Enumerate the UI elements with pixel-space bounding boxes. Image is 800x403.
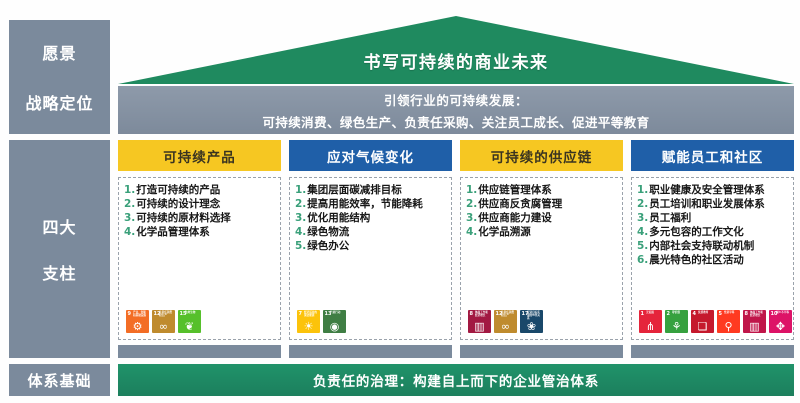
list-item: 2.可持续的设计理念 — [124, 198, 276, 211]
strategy-line-2: 可持续消费、绿色生产、负责任采购、关注员工成长、促进平等教育 — [262, 112, 649, 131]
sdg-glyph: ⚙ — [126, 321, 149, 332]
rail-strategy-label: 战略定位 — [25, 90, 93, 114]
sdg-number: 1 — [641, 311, 644, 317]
list-item-label: 供应链管理体系 — [478, 184, 552, 197]
sdg-glyph: ⋔ — [639, 321, 662, 332]
sdg-13-icon: 13气候行动◉ — [323, 310, 346, 333]
list-item-label: 化学品管理体系 — [136, 226, 210, 239]
pillar-1-sdg-icons: 9产业、创新和基础设施⚙12负责任消费和生产∞15陆地生物❦ — [124, 308, 276, 335]
pillar-4-base — [631, 345, 794, 358]
sdg-number: 9 — [128, 311, 131, 317]
pillar-3-base — [460, 345, 623, 358]
sdg-title: 无贫困 — [646, 311, 661, 314]
sdg-glyph: ☀ — [297, 321, 320, 332]
list-item-number: 2. — [295, 198, 306, 211]
pillar-4-body: 1.职业健康及安全管理体系2.员工培训和职业发展体系3.员工福利4.多元包容的工… — [631, 177, 794, 340]
sdg-title: 性别平等 — [724, 311, 739, 314]
list-item-number: 3. — [637, 212, 648, 225]
list-item: 1.职业健康及安全管理体系 — [637, 184, 789, 197]
pillar-2-base — [289, 345, 452, 358]
sdg-8-icon: 8体面工作和经济增长▥ — [468, 310, 491, 333]
pillar-2-item-list: 1.集团层面碳减排目标2.提高用能效率，节能降耗3.优化用能结构4.绿色物流5.… — [295, 184, 447, 254]
list-item-number: 4. — [466, 226, 477, 239]
list-item-label: 化学品溯源 — [478, 226, 531, 239]
list-item: 2.提高用能效率，节能降耗 — [295, 198, 447, 211]
sdg-number: 5 — [719, 311, 722, 317]
list-item-number: 1. — [124, 184, 135, 197]
sdg-title: 减少不平等 — [776, 311, 791, 314]
sdg-number: 7 — [299, 311, 302, 317]
pillar-1-base — [118, 345, 281, 358]
list-item-number: 3. — [124, 212, 135, 225]
strategy-line-1: 引领行业的可持续发展： — [384, 90, 528, 109]
list-item-label: 可持续的设计理念 — [136, 198, 220, 211]
sdg-glyph: ⚘ — [665, 321, 688, 332]
pillar-2: 应对气候变化1.集团层面碳减排目标2.提高用能效率，节能降耗3.优化用能结构4.… — [289, 140, 452, 358]
pillars-row: 可持续产品1.打造可持续的产品2.可持续的设计理念3.可持续的原材料选择4.化学… — [118, 140, 794, 358]
list-item: 1.打造可持续的产品 — [124, 184, 276, 197]
list-item-label: 供应商能力建设 — [478, 212, 552, 225]
list-item: 2.供应商反贪腐管理 — [466, 198, 618, 211]
list-item: 3.优化用能结构 — [295, 212, 447, 225]
pillar-3-sdg-icons: 8体面工作和经济增长▥12负责任消费和生产∞17促进目标实现的伙伴关系❀ — [466, 308, 618, 335]
pillar-4-item-list: 1.职业健康及安全管理体系2.员工培训和职业发展体系3.员工福利4.多元包容的工… — [637, 184, 789, 268]
sdg-number: 8 — [470, 311, 473, 317]
rail-base-label: 体系基础 — [27, 370, 91, 391]
list-item-label: 供应商反贪腐管理 — [478, 198, 562, 211]
sdg-glyph: ∞ — [494, 321, 517, 332]
rail-four-pillars: 四大 支柱 — [9, 140, 110, 358]
base-band: 负责任的治理：构建自上而下的企业管治体系 — [118, 364, 794, 396]
sdg-glyph: ❀ — [520, 321, 543, 332]
pillar-3-header[interactable]: 可持续的供应链 — [460, 140, 623, 171]
list-item: 5.内部社会支持联动机制 — [637, 240, 789, 253]
list-item: 3.员工福利 — [637, 212, 789, 225]
sdg-glyph: ⚲ — [717, 321, 740, 332]
pillar-1-item-list: 1.打造可持续的产品2.可持续的设计理念3.可持续的原材料选择4.化学品管理体系 — [124, 184, 276, 240]
rail-pillars-label-2: 支柱 — [42, 260, 76, 284]
list-item-number: 3. — [295, 212, 306, 225]
list-item: 4.多元包容的工作文化 — [637, 226, 789, 239]
list-item-label: 职业健康及安全管理体系 — [649, 184, 765, 197]
list-item: 1.集团层面碳减排目标 — [295, 184, 447, 197]
sdg-title: 气候行动 — [330, 311, 345, 314]
rail-system-base: 体系基础 — [9, 364, 110, 396]
pillar-3-body: 1.供应链管理体系2.供应商反贪腐管理3.供应商能力建设4.化学品溯源8体面工作… — [460, 177, 623, 340]
list-item-number: 2. — [637, 198, 648, 211]
list-item-number: 6. — [637, 254, 648, 267]
list-item: 2.员工培训和职业发展体系 — [637, 198, 789, 211]
list-item-number: 3. — [466, 212, 477, 225]
sdg-title: 产业、创新和基础设施 — [133, 311, 148, 317]
pillar-3-item-list: 1.供应链管理体系2.供应商反贪腐管理3.供应商能力建设4.化学品溯源 — [466, 184, 618, 240]
sdg-title: 经济适用的清洁能源 — [304, 311, 319, 317]
sdg-12-icon: 12负责任消费和生产∞ — [152, 310, 175, 333]
sdg-10-icon: 10减少不平等✥ — [769, 310, 792, 333]
list-item-label: 提高用能效率，节能降耗 — [307, 198, 423, 211]
rail-vision-strategy: 愿景 战略定位 — [9, 20, 110, 134]
pillar-1: 可持续产品1.打造可持续的产品2.可持续的设计理念3.可持续的原材料选择4.化学… — [118, 140, 281, 358]
sdg-title: 负责任消费和生产 — [159, 311, 174, 317]
list-item-label: 可持续的原材料选择 — [136, 212, 231, 225]
list-item-label: 员工福利 — [649, 212, 691, 225]
pillar-4-sdg-icons: 1无贫困⋔2零饥饿⚘4优质教育❏5性别平等⚲8体面工作和经济增长▥10减少不平等… — [637, 308, 789, 335]
sdg-title: 陆地生物 — [185, 311, 200, 314]
sdg-glyph: ❏ — [691, 321, 714, 332]
pillar-4-header[interactable]: 赋能员工和社区 — [631, 140, 794, 171]
sdg-glyph: ◉ — [323, 321, 346, 332]
list-item: 4.绿色物流 — [295, 226, 447, 239]
list-item-number: 2. — [124, 198, 135, 211]
sdg-glyph: ✥ — [769, 321, 792, 332]
list-item-number: 5. — [637, 240, 648, 253]
sdg-8-icon: 8体面工作和经济增长▥ — [743, 310, 766, 333]
sdg-glyph: ∞ — [152, 321, 175, 332]
sdg-9-icon: 9产业、创新和基础设施⚙ — [126, 310, 149, 333]
list-item-number: 5. — [295, 240, 306, 253]
pillar-3: 可持续的供应链1.供应链管理体系2.供应商反贪腐管理3.供应商能力建设4.化学品… — [460, 140, 623, 358]
list-item: 6.晨光特色的社区活动 — [637, 254, 789, 267]
pillar-1-header[interactable]: 可持续产品 — [118, 140, 281, 171]
sdg-title: 优质教育 — [698, 311, 713, 314]
list-item-label: 多元包容的工作文化 — [649, 226, 744, 239]
list-item-number: 4. — [295, 226, 306, 239]
list-item: 3.可持续的原材料选择 — [124, 212, 276, 225]
sdg-5-icon: 5性别平等⚲ — [717, 310, 740, 333]
sdg-title: 体面工作和经济增长 — [475, 311, 490, 317]
roof-title: 书写可持续的商业未来 — [118, 48, 794, 73]
pillar-1-body: 1.打造可持续的产品2.可持续的设计理念3.可持续的原材料选择4.化学品管理体系… — [118, 177, 281, 340]
pillar-2-body: 1.集团层面碳减排目标2.提高用能效率，节能降耗3.优化用能结构4.绿色物流5.… — [289, 177, 452, 340]
list-item-label: 打造可持续的产品 — [136, 184, 220, 197]
sdg-title: 负责任消费和生产 — [501, 311, 516, 317]
sdg-number: 4 — [693, 311, 696, 317]
list-item-label: 绿色物流 — [307, 226, 349, 239]
list-item: 1.供应链管理体系 — [466, 184, 618, 197]
list-item: 5.绿色办公 — [295, 240, 447, 253]
sdg-glyph: ▥ — [743, 321, 766, 332]
list-item: 3.供应商能力建设 — [466, 212, 618, 225]
list-item-label: 优化用能结构 — [307, 212, 370, 225]
sdg-17-icon: 17促进目标实现的伙伴关系❀ — [520, 310, 543, 333]
list-item: 4.化学品管理体系 — [124, 226, 276, 239]
list-item-number: 4. — [124, 226, 135, 239]
list-item-label: 晨光特色的社区活动 — [649, 254, 744, 267]
list-item-number: 1. — [637, 184, 648, 197]
list-item-number: 1. — [295, 184, 306, 197]
sdg-title: 体面工作和经济增长 — [750, 311, 765, 317]
list-item-label: 绿色办公 — [307, 240, 349, 253]
strategy-band: 引领行业的可持续发展： 可持续消费、绿色生产、负责任采购、关注员工成长、促进平等… — [118, 86, 794, 134]
list-item-number: 1. — [466, 184, 477, 197]
sdg-number: 8 — [745, 311, 748, 317]
rail-pillars-label-1: 四大 — [42, 214, 76, 238]
pillar-2-header[interactable]: 应对气候变化 — [289, 140, 452, 171]
sdg-number: 2 — [667, 311, 670, 317]
sdg-2-icon: 2零饥饿⚘ — [665, 310, 688, 333]
base-text: 负责任的治理：构建自上而下的企业管治体系 — [313, 370, 599, 390]
sdg-glyph: ❦ — [178, 321, 201, 332]
sdg-12-icon: 12负责任消费和生产∞ — [494, 310, 517, 333]
sdg-15-icon: 15陆地生物❦ — [178, 310, 201, 333]
sdg-title: 零饥饿 — [672, 311, 687, 314]
list-item: 4.化学品溯源 — [466, 226, 618, 239]
rail-vision-label: 愿景 — [42, 40, 76, 64]
list-item-label: 内部社会支持联动机制 — [649, 240, 754, 253]
sdg-glyph: ▥ — [468, 321, 491, 332]
list-item-number: 4. — [637, 226, 648, 239]
sdg-7-icon: 7经济适用的清洁能源☀ — [297, 310, 320, 333]
sdg-1-icon: 1无贫困⋔ — [639, 310, 662, 333]
framework-diagram: 愿景 战略定位 四大 支柱 体系基础 书写可持续的商业未来 引领行业的可持续发展… — [0, 0, 800, 403]
pillar-4: 赋能员工和社区1.职业健康及安全管理体系2.员工培训和职业发展体系3.员工福利4… — [631, 140, 794, 358]
list-item-label: 员工培训和职业发展体系 — [649, 198, 765, 211]
sdg-4-icon: 4优质教育❏ — [691, 310, 714, 333]
sdg-title: 促进目标实现的伙伴关系 — [527, 311, 542, 320]
list-item-number: 2. — [466, 198, 477, 211]
list-item-label: 集团层面碳减排目标 — [307, 184, 402, 197]
pillar-2-sdg-icons: 7经济适用的清洁能源☀13气候行动◉ — [295, 308, 447, 335]
